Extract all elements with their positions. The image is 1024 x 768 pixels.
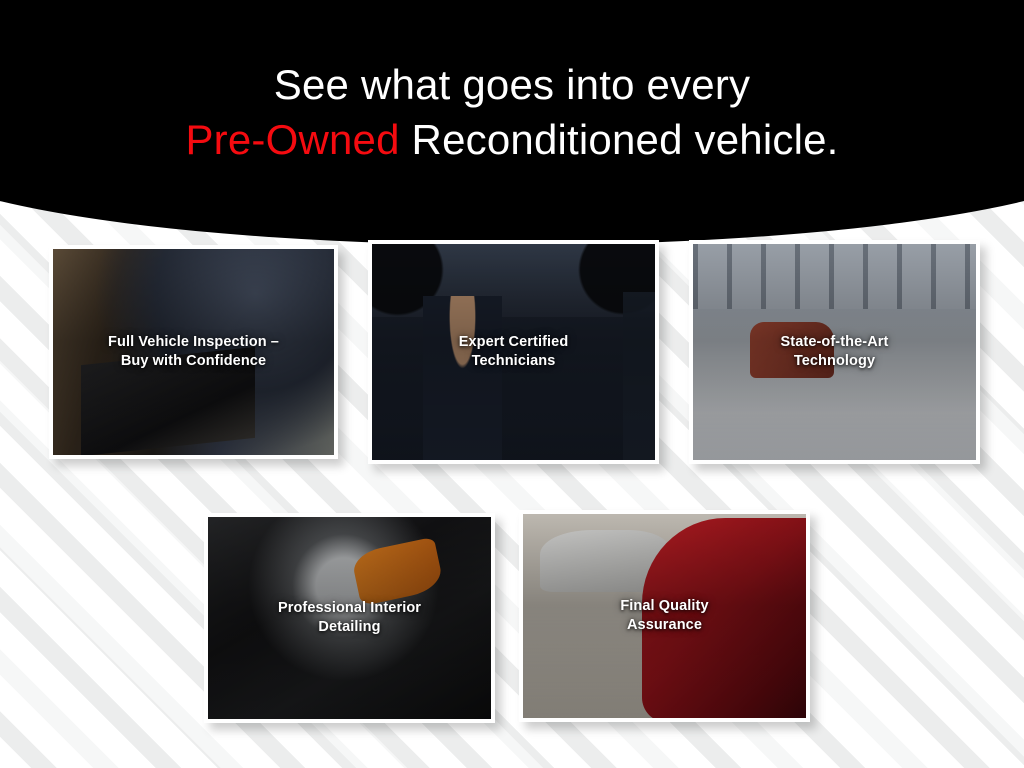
card-full-vehicle-inspection[interactable]: Full Vehicle Inspection –Buy with Confid… (49, 245, 338, 459)
card-caption-line-2: Technology (794, 353, 875, 369)
card-caption-line-2: Technicians (472, 353, 556, 369)
card-caption-line-1: Expert Certified (459, 334, 569, 350)
card-caption: Professional InteriorDetailing (268, 599, 431, 637)
card-caption: Full Vehicle Inspection –Buy with Confid… (98, 333, 289, 371)
card-professional-interior-detailing[interactable]: Professional InteriorDetailing (204, 513, 495, 723)
card-caption-line-1: State-of-the-Art (781, 334, 889, 350)
card-photo: Final QualityAssurance (523, 514, 806, 718)
card-final-quality-assurance[interactable]: Final QualityAssurance (519, 510, 810, 722)
card-caption-line-1: Professional Interior (278, 600, 421, 616)
headline-line-2: Pre-Owned Reconditioned vehicle. (0, 112, 1024, 167)
card-caption-line-2: Buy with Confidence (121, 353, 266, 369)
card-caption: Expert CertifiedTechnicians (449, 333, 579, 371)
card-expert-certified-technicians[interactable]: Expert CertifiedTechnicians (368, 240, 659, 464)
card-photo: Professional InteriorDetailing (208, 517, 491, 719)
card-state-of-the-art-technology[interactable]: State-of-the-ArtTechnology (689, 240, 980, 464)
card-caption-line-2: Assurance (627, 617, 702, 633)
card-caption: State-of-the-ArtTechnology (771, 333, 899, 371)
card-photo: Expert CertifiedTechnicians (372, 244, 655, 460)
card-photo: Full Vehicle Inspection –Buy with Confid… (53, 249, 334, 455)
card-caption-line-1: Full Vehicle Inspection – (108, 334, 279, 350)
headline-line-2-rest: Reconditioned vehicle. (400, 116, 839, 163)
card-caption-line-2: Detailing (318, 619, 380, 635)
headline-line-1: See what goes into every (0, 57, 1024, 112)
card-caption-line-1: Final Quality (620, 598, 708, 614)
card-photo: State-of-the-ArtTechnology (693, 244, 976, 460)
card-caption: Final QualityAssurance (610, 597, 718, 635)
headline-accent-pre-owned: Pre-Owned (185, 116, 399, 163)
page-title: See what goes into every Pre-Owned Recon… (0, 57, 1024, 167)
